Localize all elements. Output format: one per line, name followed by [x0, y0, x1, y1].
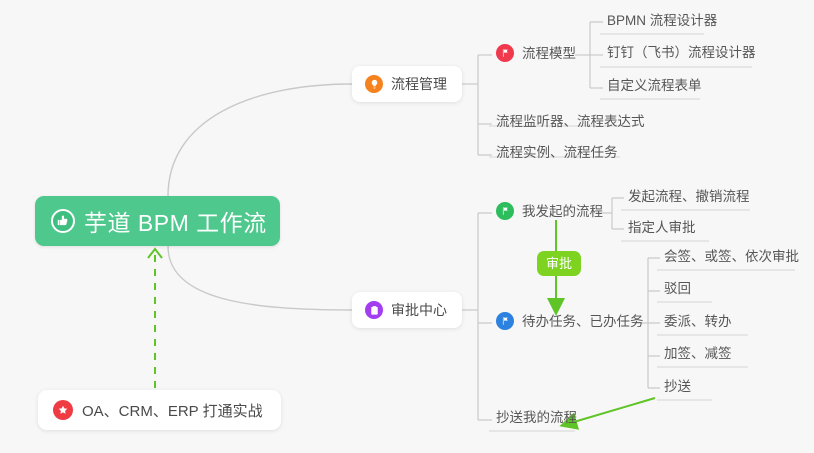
node-integration-practice[interactable]: OA、CRM、ERP 打通实战: [38, 390, 281, 430]
node-start-cancel-flow-label: 发起流程、撤销流程: [628, 189, 750, 204]
clipboard-icon: [365, 301, 383, 319]
node-bpmn-designer-label: BPMN 流程设计器: [607, 13, 717, 28]
green-flag-icon: [496, 202, 514, 220]
node-approval-center-label: 审批中心: [391, 300, 447, 320]
thumbs-up-icon: [51, 209, 75, 233]
node-cc[interactable]: 抄送: [660, 378, 695, 399]
node-reject-label: 驳回: [664, 281, 691, 296]
node-reject[interactable]: 驳回: [660, 280, 695, 301]
lightbulb-icon: [365, 75, 383, 93]
node-assignee-approve[interactable]: 指定人审批: [624, 219, 700, 240]
node-cc-to-me-label: 抄送我的流程: [496, 410, 577, 425]
mindmap-canvas: 芋道 BPM 工作流 流程管理 流程模型 流程监听器、流程表达式 流程实例、流程…: [0, 0, 814, 453]
node-dingtalk-designer-label: 钉钉（飞书）流程设计器: [607, 45, 756, 60]
node-my-initiated[interactable]: 我发起的流程: [492, 202, 607, 224]
node-dingtalk-designer[interactable]: 钉钉（飞书）流程设计器: [603, 44, 760, 65]
node-process-model[interactable]: 流程模型: [492, 44, 580, 66]
node-countersign[interactable]: 会签、或签、依次审批: [660, 248, 803, 269]
node-start-cancel-flow[interactable]: 发起流程、撤销流程: [624, 188, 754, 209]
node-process-management[interactable]: 流程管理: [352, 66, 462, 102]
node-process-model-label: 流程模型: [522, 45, 576, 62]
node-delegate-transfer[interactable]: 委派、转办: [660, 313, 736, 334]
tag-approval-label: 审批: [546, 256, 572, 271]
node-custom-form-label: 自定义流程表单: [607, 78, 702, 93]
root-node[interactable]: 芋道 BPM 工作流: [35, 196, 280, 246]
dashed-arrowhead: [148, 249, 162, 258]
node-add-remove-sign[interactable]: 加签、减签: [660, 345, 736, 366]
node-process-listener[interactable]: 流程监听器、流程表达式: [492, 113, 649, 134]
node-countersign-label: 会签、或签、依次审批: [664, 249, 799, 264]
link-root-to-process-management: [168, 84, 352, 196]
node-delegate-transfer-label: 委派、转办: [664, 314, 732, 329]
node-cc-to-me[interactable]: 抄送我的流程: [492, 409, 581, 430]
red-flag-icon: [496, 44, 514, 62]
node-add-remove-sign-label: 加签、减签: [664, 346, 732, 361]
node-process-instance[interactable]: 流程实例、流程任务: [492, 144, 622, 165]
node-integration-practice-label: OA、CRM、ERP 打通实战: [82, 400, 263, 421]
node-cc-label: 抄送: [664, 379, 691, 394]
node-approval-center[interactable]: 审批中心: [352, 292, 462, 328]
node-custom-form[interactable]: 自定义流程表单: [603, 77, 706, 98]
node-process-management-label: 流程管理: [391, 74, 447, 94]
node-bpmn-designer[interactable]: BPMN 流程设计器: [603, 12, 721, 33]
root-label: 芋道 BPM 工作流: [84, 204, 267, 238]
node-process-listener-label: 流程监听器、流程表达式: [496, 114, 645, 129]
link-root-to-approval-center: [168, 246, 352, 310]
blue-flag-icon: [496, 312, 514, 330]
tag-approval[interactable]: 审批: [537, 251, 581, 276]
node-assignee-approve-label: 指定人审批: [628, 220, 696, 235]
node-process-instance-label: 流程实例、流程任务: [496, 145, 618, 160]
node-todo-done-tasks[interactable]: 待办任务、已办任务: [492, 312, 648, 334]
node-my-initiated-label: 我发起的流程: [522, 203, 603, 220]
node-todo-done-tasks-label: 待办任务、已办任务: [522, 313, 644, 330]
star-icon: [53, 400, 73, 420]
